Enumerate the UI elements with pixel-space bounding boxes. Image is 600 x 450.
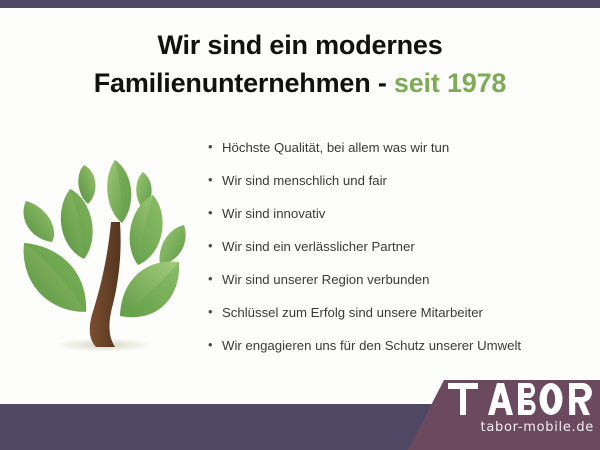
list-item: • Wir sind ein verlässlicher Partner — [208, 240, 596, 273]
bullet-marker-icon: • — [208, 140, 222, 153]
list-item-label: Wir sind menschlich und fair — [222, 174, 596, 187]
brand-logo[interactable]: tabor-mobile.de — [404, 378, 600, 450]
list-item: • Schlüssel zum Erfolg sind unsere Mitar… — [208, 306, 596, 339]
headline-line-2: Familienunternehmen - seit 1978 — [0, 64, 600, 102]
top-accent-bar — [0, 0, 600, 8]
logo-tagline: tabor-mobile.de — [404, 420, 594, 435]
list-item-label: Wir sind unserer Region verbunden — [222, 273, 596, 286]
list-item: • Wir sind innovativ — [208, 207, 596, 240]
bullet-marker-icon: • — [208, 338, 222, 351]
list-item: • Höchste Qualität, bei allem was wir tu… — [208, 141, 596, 174]
value-bullet-list: • Höchste Qualität, bei allem was wir tu… — [208, 141, 596, 372]
bullet-marker-icon: • — [208, 272, 222, 285]
list-item: • Wir sind menschlich und fair — [208, 174, 596, 207]
list-item-label: Höchste Qualität, bei allem was wir tun — [222, 141, 596, 154]
headline-line-2-prefix: Familienunternehmen - — [94, 68, 394, 98]
tree-icon — [12, 142, 197, 370]
slide-canvas: Wir sind ein modernes Familienunternehme… — [0, 0, 600, 450]
list-item-label: Wir sind ein verlässlicher Partner — [222, 240, 596, 253]
tree-trunk — [90, 222, 121, 347]
bullet-marker-icon: • — [208, 173, 222, 186]
bullet-marker-icon: • — [208, 239, 222, 252]
headline-line-1: Wir sind ein modernes — [0, 26, 600, 64]
list-item-label: Schlüssel zum Erfolg sind unsere Mitarbe… — [222, 306, 596, 319]
list-item-label: Wir engagieren uns für den Schutz unsere… — [222, 339, 596, 352]
bullet-marker-icon: • — [208, 305, 222, 318]
page-title: Wir sind ein modernes Familienunternehme… — [0, 26, 600, 103]
logo-wordmark — [448, 382, 594, 416]
headline-accent-seit-1978: seit 1978 — [394, 68, 506, 98]
list-item: • Wir sind unserer Region verbunden — [208, 273, 596, 306]
list-item: • Wir engagieren uns für den Schutz unse… — [208, 339, 596, 372]
bullet-marker-icon: • — [208, 206, 222, 219]
list-item-label: Wir sind innovativ — [222, 207, 596, 220]
